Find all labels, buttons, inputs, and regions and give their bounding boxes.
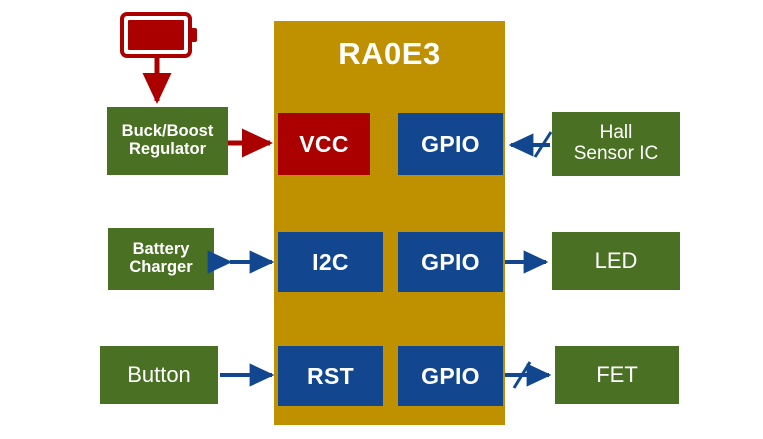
regulator-label: Buck/Boost Regulator	[122, 123, 214, 159]
connector-gpio-to-fet	[505, 362, 549, 388]
mcu-pin-gpio-3: GPIO	[398, 346, 503, 406]
mcu-pin-gpio-1: GPIO	[398, 113, 503, 175]
battery-icon	[120, 12, 200, 58]
battery-charger-label: Battery Charger	[129, 241, 192, 277]
peripheral-buck-boost-regulator: Buck/Boost Regulator	[107, 107, 228, 175]
peripheral-led: LED	[552, 232, 680, 290]
mcu-title: RA0E3	[274, 36, 505, 72]
hall-sensor-label: Hall Sensor IC	[574, 123, 658, 164]
peripheral-battery-charger: Battery Charger	[108, 228, 214, 290]
hall-sensor-label-line2: Sensor IC	[574, 143, 658, 164]
mcu-pin-rst-label: RST	[307, 364, 354, 389]
peripheral-fet: FET	[555, 346, 679, 404]
peripheral-button: Button	[100, 346, 218, 404]
mcu-pin-rst: RST	[278, 346, 383, 406]
mcu-pin-i2c-label: I2C	[312, 250, 349, 275]
led-label: LED	[595, 249, 638, 273]
peripheral-hall-sensor-ic: Hall Sensor IC	[552, 112, 680, 176]
button-label: Button	[127, 363, 191, 387]
mcu-pin-gpio-2: GPIO	[398, 232, 503, 292]
mcu-pin-gpio-2-label: GPIO	[421, 250, 480, 275]
fet-label: FET	[596, 363, 638, 387]
hall-sensor-label-line1: Hall	[600, 122, 633, 143]
battery-charger-label-line1: Battery	[133, 240, 190, 258]
battery-charger-label-line2: Charger	[129, 258, 192, 276]
mcu-pin-vcc: VCC	[278, 113, 370, 175]
mcu-pin-i2c: I2C	[278, 232, 383, 292]
mcu-pin-vcc-label: VCC	[299, 132, 348, 157]
mcu-pin-gpio-3-label: GPIO	[421, 364, 480, 389]
connector-hall-sensor-to-gpio	[511, 132, 551, 157]
mcu-pin-gpio-1-label: GPIO	[421, 132, 480, 157]
regulator-label-line2: Regulator	[129, 140, 206, 158]
regulator-label-line1: Buck/Boost	[122, 122, 214, 140]
block-diagram-canvas: RA0E3 Buck/Boost Regulator Battery Charg…	[0, 0, 763, 439]
